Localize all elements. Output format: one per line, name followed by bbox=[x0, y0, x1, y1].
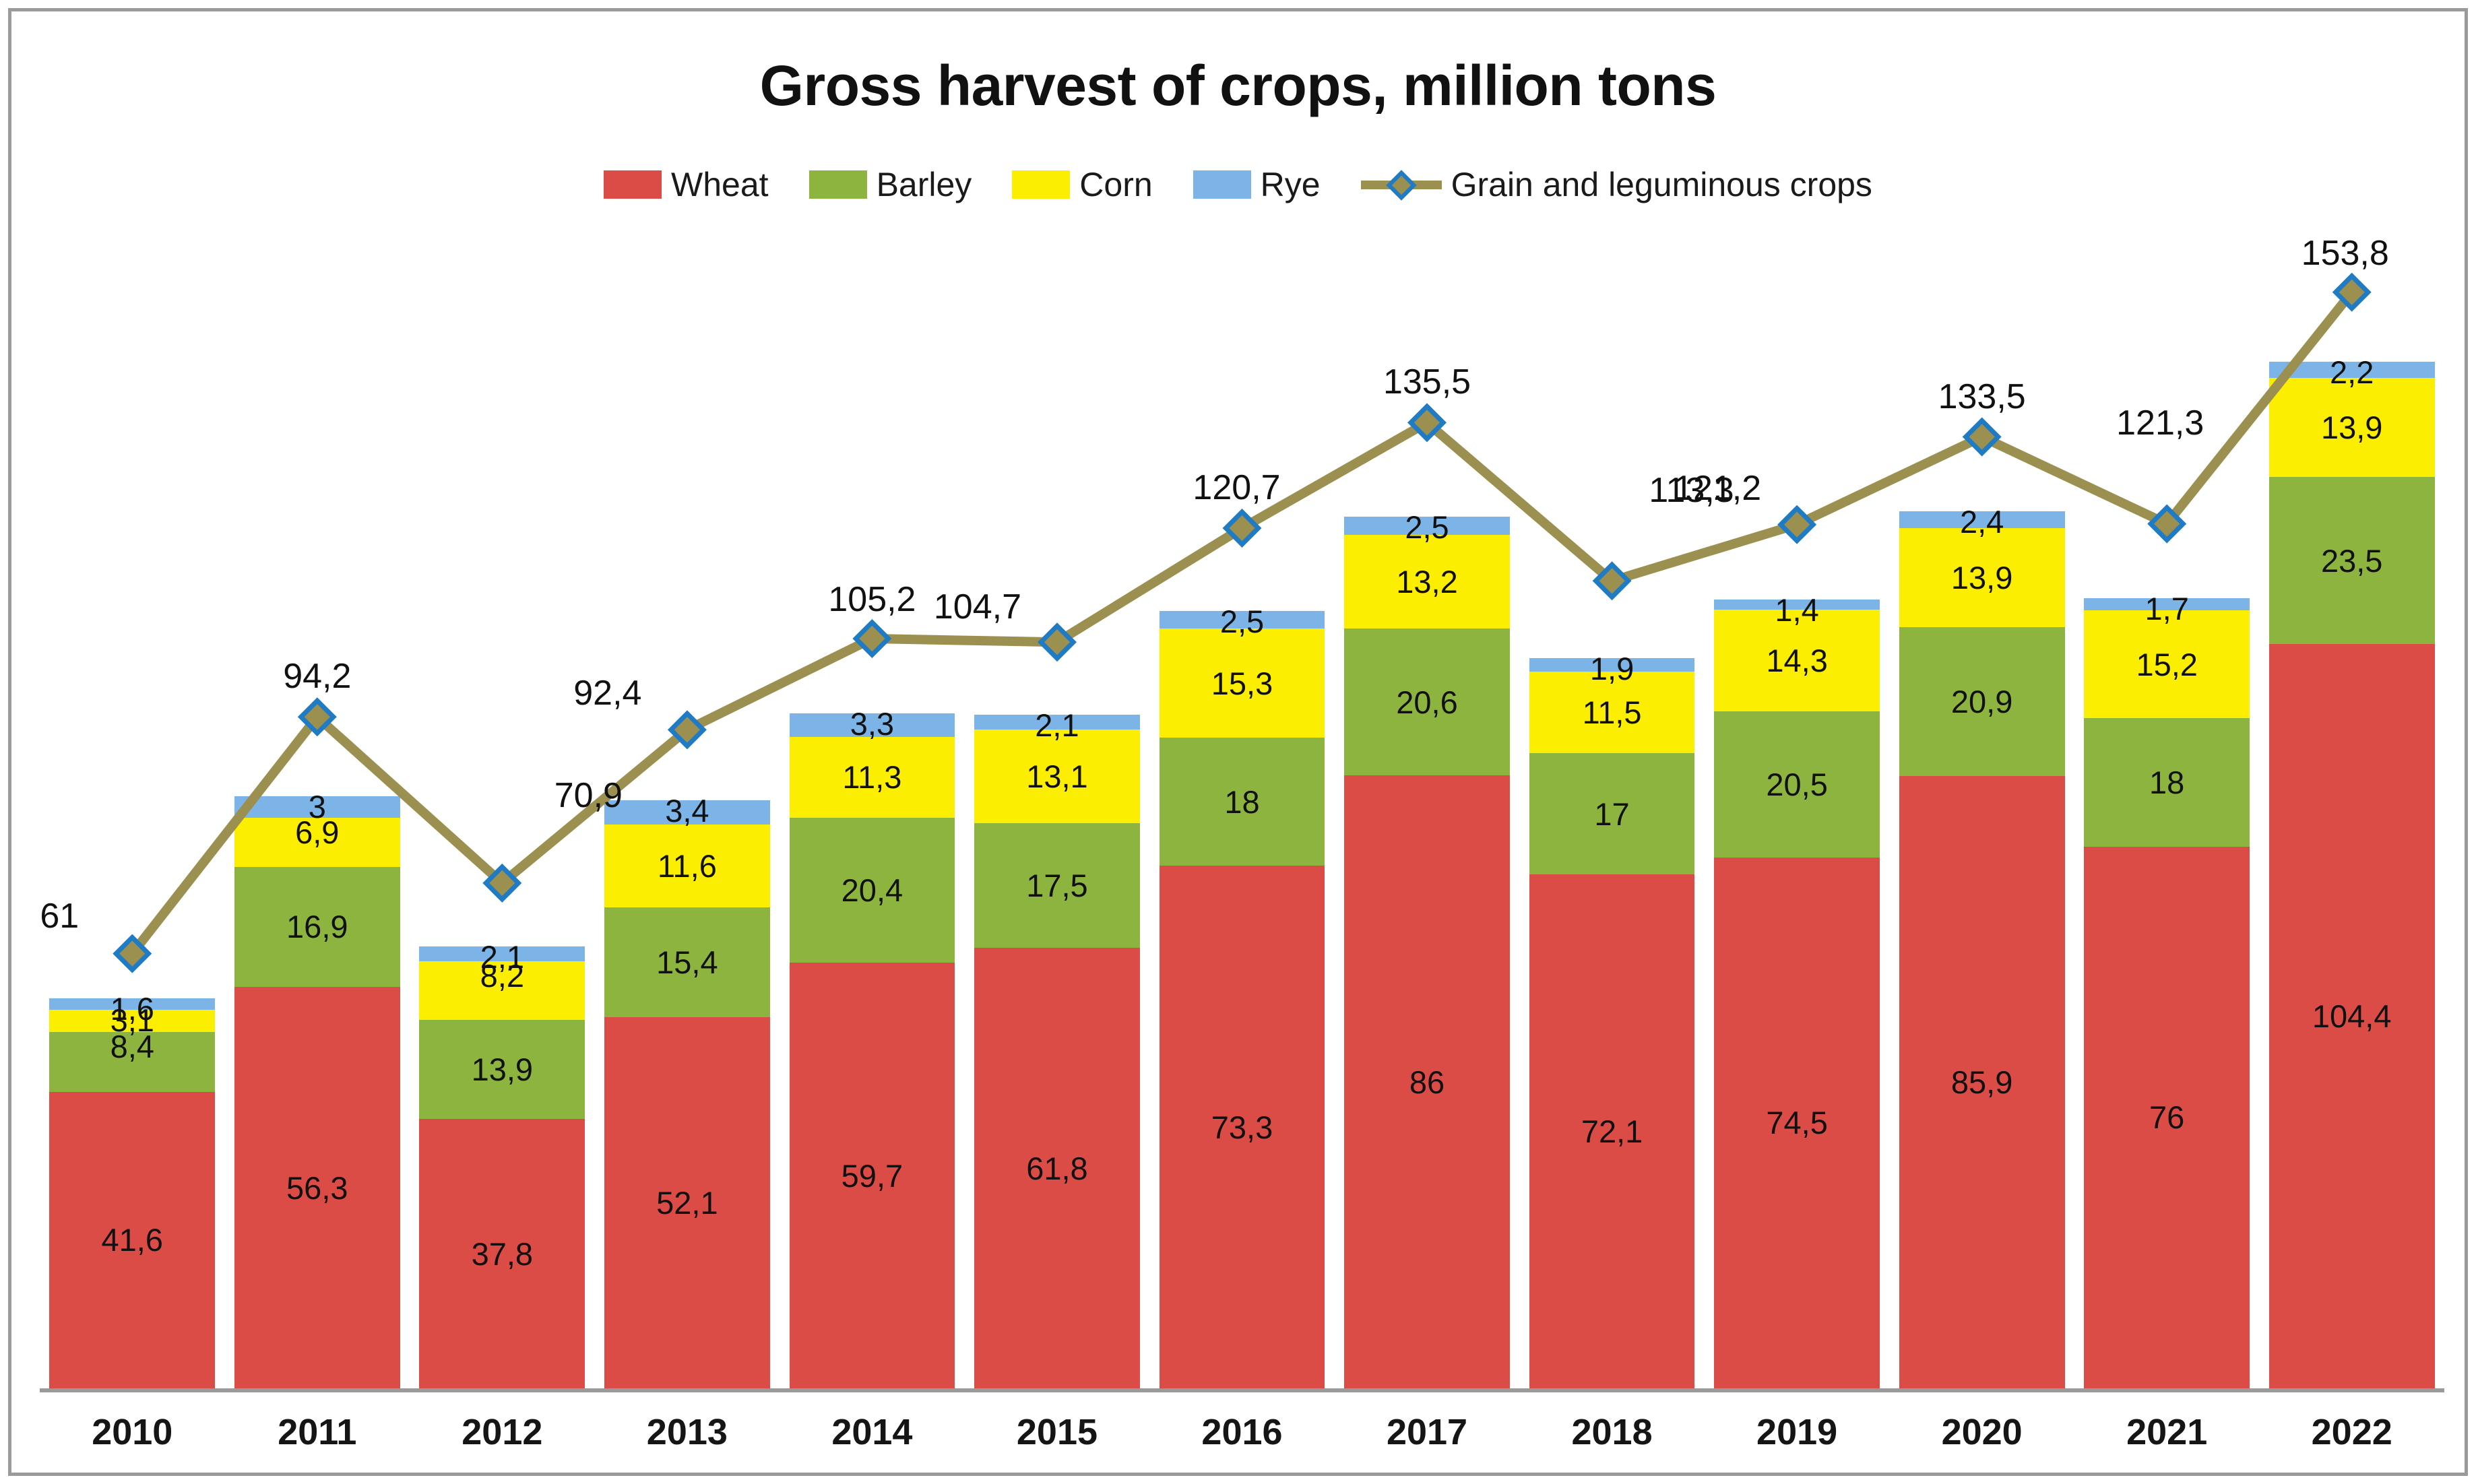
bar-segment-label: 2,5 bbox=[1405, 509, 1449, 546]
bar-segment-wheat[interactable]: 37,8 bbox=[419, 1119, 585, 1388]
x-axis-tick-label: 2021 bbox=[2074, 1411, 2260, 1453]
bar-segment-label: 18 bbox=[2149, 764, 2184, 801]
x-axis-tick-label: 2010 bbox=[40, 1411, 225, 1453]
bar-segment-rye[interactable]: 2,1 bbox=[974, 715, 1140, 730]
bar-segment-label: 2,4 bbox=[1960, 503, 2004, 540]
bar-segment-wheat[interactable]: 41,6 bbox=[49, 1092, 215, 1388]
bar-segment-rye[interactable]: 3,3 bbox=[790, 713, 955, 737]
bar-segment-label: 15,3 bbox=[1211, 665, 1273, 702]
bar-segment-barley[interactable]: 18 bbox=[2084, 718, 2250, 846]
bar-segment-corn[interactable]: 13,9 bbox=[1899, 528, 2065, 627]
x-axis-labels: 2010201120122013201420152016201720182019… bbox=[40, 1411, 2444, 1458]
bar-group[interactable]: 1,63,18,441,6 bbox=[49, 998, 215, 1388]
bar-segment-wheat[interactable]: 104,4 bbox=[2269, 644, 2435, 1388]
legend-item-label: Wheat bbox=[671, 165, 769, 204]
bar-group[interactable]: 2,413,920,985,9 bbox=[1899, 511, 2065, 1388]
bar-segment-label: 23,5 bbox=[2321, 542, 2382, 579]
legend-swatch-icon bbox=[1193, 170, 1251, 199]
x-axis-line bbox=[40, 1388, 2444, 1392]
bar-segment-label: 86 bbox=[1409, 1064, 1445, 1101]
bar-segment-barley[interactable]: 20,4 bbox=[790, 818, 955, 963]
bar-group[interactable]: 1,414,320,574,5 bbox=[1714, 600, 1880, 1388]
bar-segment-wheat[interactable]: 73,3 bbox=[1160, 866, 1325, 1388]
bar-group[interactable]: 2,213,923,5104,4 bbox=[2269, 362, 2435, 1388]
bar-segment-label: 2,5 bbox=[1220, 603, 1264, 640]
bar-segment-label: 13,9 bbox=[2321, 409, 2382, 446]
x-axis-tick-label: 2020 bbox=[1889, 1411, 2074, 1453]
bar-segment-label: 1,4 bbox=[1775, 591, 1818, 628]
bar-segment-label: 59,7 bbox=[842, 1157, 903, 1194]
bar-segment-barley[interactable]: 17,5 bbox=[974, 823, 1140, 948]
bar-group[interactable]: 2,515,31873,3 bbox=[1160, 611, 1325, 1388]
bar-segment-barley[interactable]: 20,5 bbox=[1714, 711, 1880, 858]
bar-segment-label: 3,4 bbox=[665, 792, 709, 829]
bar-segment-wheat[interactable]: 86 bbox=[1344, 775, 1510, 1388]
bar-segment-label: 18 bbox=[1224, 783, 1259, 820]
bar-segment-wheat[interactable]: 59,7 bbox=[790, 963, 955, 1388]
legend-swatch-icon bbox=[1012, 170, 1070, 199]
chart-frame: Gross harvest of crops, million tons Whe… bbox=[8, 8, 2468, 1476]
bar-segment-wheat[interactable]: 72,1 bbox=[1529, 874, 1695, 1388]
bar-segment-label: 13,2 bbox=[1396, 563, 1457, 600]
bar-group[interactable]: 1,715,21876 bbox=[2084, 598, 2250, 1388]
bar-group[interactable]: 36,916,956,3 bbox=[234, 796, 400, 1388]
bar-segment-label: 61,8 bbox=[1026, 1150, 1087, 1187]
bar-segment-barley[interactable]: 16,9 bbox=[234, 867, 400, 988]
legend-item-barley[interactable]: Barley bbox=[809, 165, 972, 204]
legend-swatch-icon bbox=[809, 170, 867, 199]
bar-segment-rye[interactable]: 3,4 bbox=[604, 800, 770, 825]
bar-group[interactable]: 2,513,220,686 bbox=[1344, 517, 1510, 1388]
bar-group[interactable]: 2,18,213,937,8 bbox=[419, 946, 585, 1388]
bar-segment-barley[interactable]: 17 bbox=[1529, 753, 1695, 874]
x-axis-tick-label: 2011 bbox=[225, 1411, 410, 1453]
bar-segment-corn[interactable]: 11,6 bbox=[604, 825, 770, 907]
legend-line-marker-icon bbox=[1361, 170, 1442, 199]
bar-segment-label: 20,5 bbox=[1766, 766, 1827, 803]
bar-segment-label: 14,3 bbox=[1766, 642, 1827, 679]
bar-segment-rye[interactable]: 1,9 bbox=[1529, 658, 1695, 672]
bar-segment-label: 72,1 bbox=[1581, 1113, 1643, 1150]
bar-segment-barley[interactable]: 13,9 bbox=[419, 1020, 585, 1119]
bar-segment-corn[interactable]: 13,9 bbox=[2269, 378, 2435, 477]
bar-group[interactable]: 1,911,51772,1 bbox=[1529, 658, 1695, 1388]
bar-group[interactable]: 3,411,615,452,1 bbox=[604, 800, 770, 1388]
bar-segment-corn[interactable]: 15,3 bbox=[1160, 628, 1325, 738]
x-axis-tick-label: 2022 bbox=[2259, 1411, 2444, 1453]
plot-area: 1,63,18,441,636,916,956,32,18,213,937,83… bbox=[40, 234, 2444, 1392]
legend-item-label: Corn bbox=[1079, 165, 1152, 204]
bar-segment-label: 20,4 bbox=[842, 872, 903, 909]
bar-segment-wheat[interactable]: 61,8 bbox=[974, 948, 1140, 1388]
bar-segment-label: 17 bbox=[1594, 796, 1629, 833]
bar-segment-label: 20,6 bbox=[1396, 684, 1457, 721]
bar-segment-label: 104,4 bbox=[2312, 998, 2392, 1035]
bar-segment-rye[interactable]: 2,5 bbox=[1344, 517, 1510, 534]
x-axis-tick-label: 2012 bbox=[410, 1411, 595, 1453]
bar-segment-wheat[interactable]: 52,1 bbox=[604, 1017, 770, 1388]
bar-segment-barley[interactable]: 23,5 bbox=[2269, 477, 2435, 645]
bar-segment-wheat[interactable]: 85,9 bbox=[1899, 776, 2065, 1388]
bar-segment-barley[interactable]: 20,9 bbox=[1899, 627, 2065, 776]
bar-segment-label: 56,3 bbox=[286, 1169, 348, 1206]
bar-segment-corn[interactable]: 13,2 bbox=[1344, 535, 1510, 629]
bar-segment-rye[interactable]: 2,5 bbox=[1160, 611, 1325, 628]
bar-segment-wheat[interactable]: 76 bbox=[2084, 847, 2250, 1388]
legend-item-rye[interactable]: Rye bbox=[1193, 165, 1321, 204]
bar-group[interactable]: 3,311,320,459,7 bbox=[790, 713, 955, 1388]
bar-segment-label: 13,9 bbox=[472, 1051, 533, 1088]
bar-segment-label: 37,8 bbox=[472, 1235, 533, 1272]
bar-segment-label: 1,7 bbox=[2145, 590, 2189, 627]
bar-segment-label: 15,2 bbox=[2136, 646, 2197, 683]
x-axis-tick-label: 2014 bbox=[780, 1411, 965, 1453]
bar-segment-label: 11,5 bbox=[1583, 694, 1642, 731]
bar-segment-rye[interactable]: 1,7 bbox=[2084, 598, 2250, 610]
bar-segment-label: 6,9 bbox=[295, 814, 339, 851]
bar-segment-barley[interactable]: 20,6 bbox=[1344, 628, 1510, 775]
bar-segment-rye[interactable]: 1,4 bbox=[1714, 600, 1880, 610]
bar-segment-label: 20,9 bbox=[1951, 683, 2012, 720]
bar-segment-label: 1,9 bbox=[1590, 650, 1634, 687]
legend-item-wheat[interactable]: Wheat bbox=[604, 165, 769, 204]
bar-segment-wheat[interactable]: 56,3 bbox=[234, 987, 400, 1388]
bar-segment-wheat[interactable]: 74,5 bbox=[1714, 858, 1880, 1388]
bar-segment-barley[interactable]: 15,4 bbox=[604, 907, 770, 1017]
legend-item-corn[interactable]: Corn bbox=[1012, 165, 1152, 204]
bar-segment-label: 8,4 bbox=[110, 1028, 154, 1065]
bar-segment-rye[interactable]: 2,2 bbox=[2269, 362, 2435, 377]
bar-segment-corn[interactable]: 8,2 bbox=[419, 961, 585, 1020]
x-axis-tick-label: 2013 bbox=[595, 1411, 780, 1453]
chart-legend: WheatBarleyCornRyeGrain and leguminous c… bbox=[11, 165, 2465, 204]
bar-segment-label: 41,6 bbox=[102, 1221, 163, 1258]
bar-segment-label: 73,3 bbox=[1211, 1109, 1273, 1146]
legend-item-label: Barley bbox=[877, 165, 972, 204]
bar-segment-corn[interactable]: 6,9 bbox=[234, 818, 400, 867]
bar-segment-label: 17,5 bbox=[1026, 867, 1087, 904]
bar-segment-label: 16,9 bbox=[286, 908, 348, 945]
x-axis-tick-label: 2015 bbox=[965, 1411, 1150, 1453]
bar-segment-label: 11,6 bbox=[658, 847, 717, 884]
bar-segment-barley[interactable]: 8,4 bbox=[49, 1032, 215, 1092]
bar-group[interactable]: 2,113,117,561,8 bbox=[974, 715, 1140, 1388]
legend-swatch-icon bbox=[604, 170, 662, 199]
bar-segment-label: 15,4 bbox=[656, 944, 718, 981]
bar-segment-label: 13,9 bbox=[1951, 559, 2012, 596]
legend-item-grain-and-leguminous-crops[interactable]: Grain and leguminous crops bbox=[1361, 165, 1872, 204]
bar-segment-label: 3,3 bbox=[850, 705, 894, 742]
chart-title: Gross harvest of crops, million tons bbox=[11, 53, 2465, 119]
bar-segment-barley[interactable]: 18 bbox=[1160, 738, 1325, 866]
bar-segment-label: 85,9 bbox=[1951, 1064, 2012, 1101]
bar-segment-label: 11,3 bbox=[842, 759, 901, 796]
x-axis-tick-label: 2017 bbox=[1335, 1411, 1520, 1453]
bar-segment-label: 8,2 bbox=[480, 957, 524, 994]
bar-segment-label: 74,5 bbox=[1766, 1104, 1827, 1141]
legend-item-label: Rye bbox=[1261, 165, 1321, 204]
x-axis-tick-label: 2018 bbox=[1519, 1411, 1705, 1453]
bar-segment-label: 52,1 bbox=[656, 1184, 718, 1221]
bar-segment-corn[interactable]: 11,3 bbox=[790, 737, 955, 818]
legend-item-label: Grain and leguminous crops bbox=[1451, 165, 1872, 204]
bar-segment-rye[interactable]: 2,4 bbox=[1899, 511, 2065, 528]
bar-segment-label: 2,2 bbox=[2330, 354, 2374, 391]
bar-segment-label: 2,1 bbox=[1035, 707, 1079, 744]
bar-segment-label: 13,1 bbox=[1026, 758, 1087, 795]
bar-segment-label: 76 bbox=[2149, 1099, 2184, 1136]
x-axis-tick-label: 2016 bbox=[1149, 1411, 1335, 1453]
x-axis-tick-label: 2019 bbox=[1705, 1411, 1890, 1453]
